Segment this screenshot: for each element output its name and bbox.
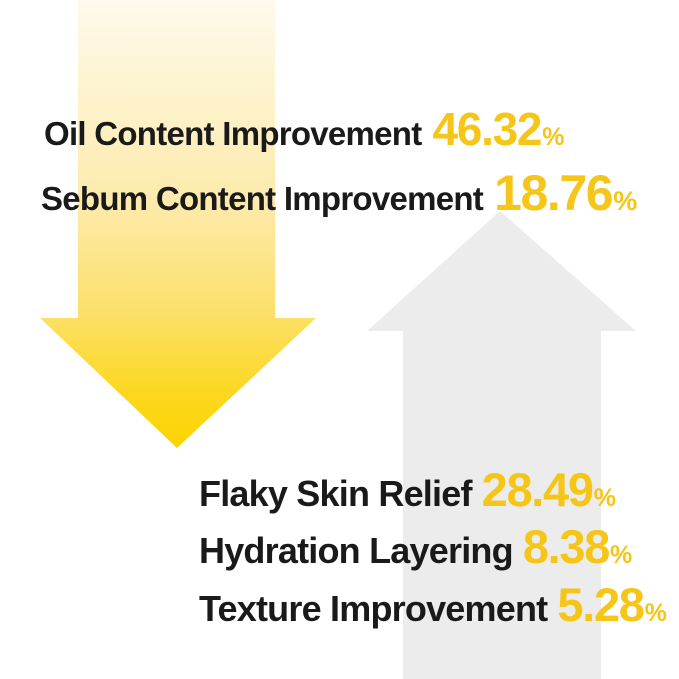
infographic-canvas: Oil Content Improvement 46.32 % Sebum Co… <box>0 0 679 679</box>
percent-sign-oil-content: % <box>542 123 564 152</box>
stat-value-oil-content: 46.32 <box>433 102 542 156</box>
down-arrow <box>40 0 316 448</box>
stat-label-sebum-content: Sebum Content Improvement <box>41 180 483 218</box>
stat-value-flaky-skin-relief: 28.49 <box>482 462 593 517</box>
stat-row-texture-improvement: Texture Improvement 5.28 % <box>199 577 666 632</box>
stat-value-hydration-layering: 8.38 <box>523 519 609 574</box>
percent-sign-sebum-content: % <box>613 186 636 217</box>
stat-label-texture-improvement: Texture Improvement <box>199 588 547 630</box>
stat-row-flaky-skin-relief: Flaky Skin Relief 28.49 % <box>199 462 615 517</box>
stat-label-hydration-layering: Hydration Layering <box>199 530 513 572</box>
stat-label-flaky-skin-relief: Flaky Skin Relief <box>199 473 472 515</box>
stat-row-sebum-content: Sebum Content Improvement 18.76 % <box>41 164 637 222</box>
percent-sign-texture-improvement: % <box>645 599 667 628</box>
stat-row-oil-content: Oil Content Improvement 46.32 % <box>44 102 564 156</box>
percent-sign-hydration-layering: % <box>610 541 632 570</box>
stat-row-hydration-layering: Hydration Layering 8.38 % <box>199 519 632 574</box>
stat-label-oil-content: Oil Content Improvement <box>44 115 422 153</box>
stat-value-texture-improvement: 5.28 <box>557 577 643 632</box>
percent-sign-flaky-skin-relief: % <box>594 484 616 513</box>
stat-value-sebum-content: 18.76 <box>494 164 612 222</box>
